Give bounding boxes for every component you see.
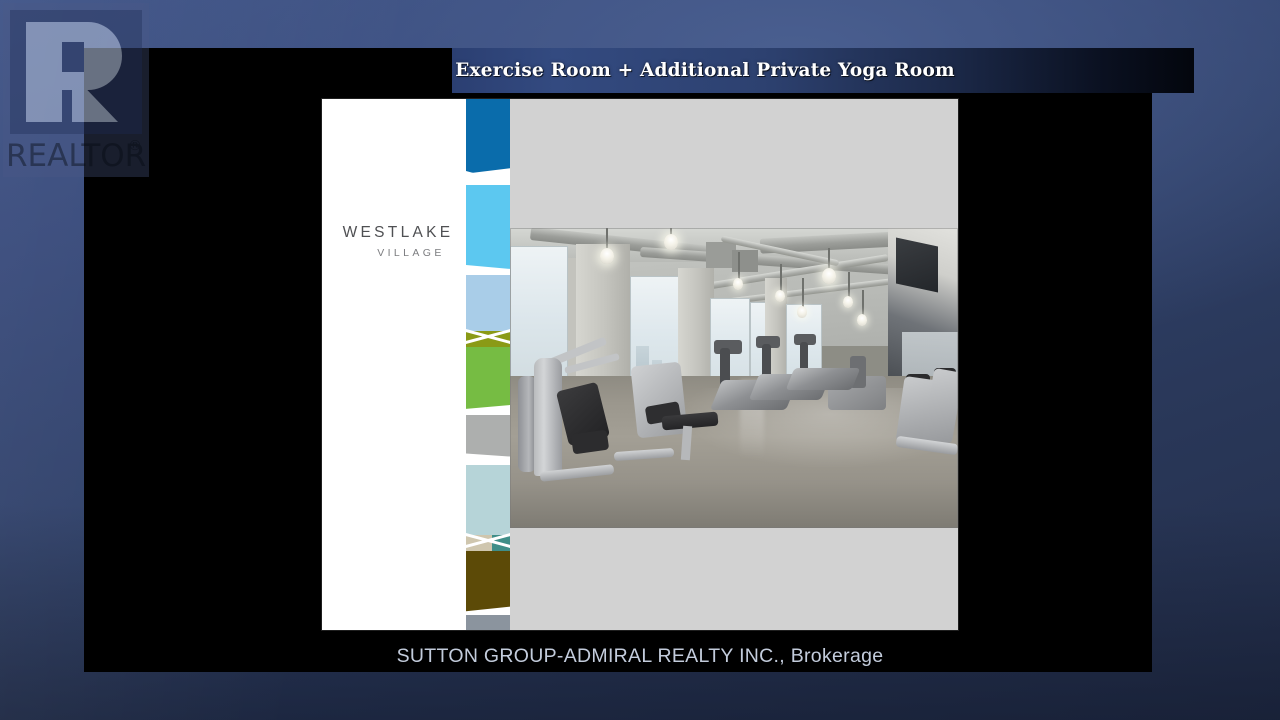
photo-pendant-light-8 — [857, 314, 867, 326]
brokerage-name: SUTTON GROUP-ADMIRAL REALTY INC., Broker… — [397, 645, 884, 667]
slide-left-white-area — [322, 99, 466, 630]
stripe-band-green — [466, 347, 510, 409]
photo-treadmill-3 — [786, 368, 861, 390]
stripe-band-sky-blue — [466, 185, 510, 269]
photo-pendant-light-5 — [797, 306, 807, 318]
photo-wall-tv — [896, 238, 938, 293]
stripe-band-gray — [466, 415, 510, 459]
photo-pendant-rod-6 — [828, 248, 830, 270]
brand-color-stripe — [466, 99, 510, 630]
realtor-watermark: REALTOR ® — [0, 0, 152, 180]
photo-pendant-rod-8 — [862, 290, 864, 316]
stripe-band-pale-teal — [466, 465, 510, 539]
svg-text:REALTOR: REALTOR — [6, 138, 146, 174]
slide-title: Exercise Room + Additional Private Yoga … — [452, 48, 958, 93]
photo-beam-b — [732, 250, 758, 272]
brokerage-footer: SUTTON GROUP-ADMIRAL REALTY INC., Broker… — [0, 645, 1280, 668]
gym-photo[interactable] — [510, 228, 958, 528]
brand-name: WESTLAKE — [330, 225, 466, 241]
photo-pendant-rod-7 — [848, 272, 850, 298]
photo-pendant-rod-4 — [780, 264, 782, 292]
photo-pendant-light-6 — [822, 268, 836, 284]
photo-pendant-rod-5 — [802, 278, 804, 308]
brand-subname: VILLAGE — [356, 248, 466, 259]
photo-pendant-light-4 — [775, 290, 785, 302]
slideshow-viewer: Exercise Room + Additional Private Yoga … — [0, 0, 1280, 720]
stripe-band-deep-blue — [466, 99, 510, 177]
stripe-crossing-3 — [466, 533, 510, 547]
slide-card[interactable]: WESTLAKE VILLAGE — [322, 99, 958, 630]
stripe-band-pale-blue — [466, 275, 510, 333]
photo-pendant-light-2 — [664, 234, 678, 250]
photo-pendant-light-3 — [733, 278, 743, 290]
svg-text:®: ® — [128, 138, 142, 154]
photo-pendant-rod-1 — [606, 228, 608, 250]
photo-pendant-light-7 — [843, 296, 853, 308]
photo-pendant-light-1 — [600, 248, 614, 264]
stripe-band-brown — [466, 551, 510, 613]
westlake-village-logo: WESTLAKE VILLAGE — [330, 225, 466, 258]
photo-weight-stack-1 — [534, 358, 562, 476]
stripe-crossing-1 — [466, 171, 510, 185]
stripe-band-slate — [466, 615, 510, 630]
photo-treadmill-rail-2 — [762, 344, 771, 378]
stripe-crossing-2 — [466, 329, 510, 343]
photo-pendant-rod-3 — [738, 252, 740, 280]
